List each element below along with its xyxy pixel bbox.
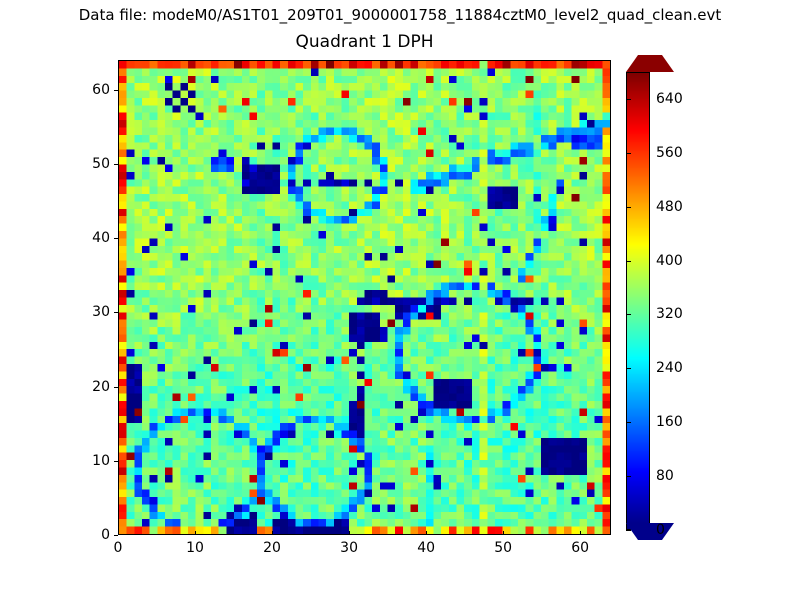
colorbar-body [626,72,650,530]
colorbar-tick-mark [626,422,631,423]
x-tick-label: 60 [571,540,589,556]
x-tick-label: 50 [494,540,512,556]
x-tick-mark [580,531,581,535]
y-tick-label: 50 [70,156,110,172]
colorbar-tick-label: 160 [656,414,683,430]
x-tick-mark [503,531,504,535]
colorbar-under-arrow-icon [626,523,674,540]
colorbar-tick-label: 240 [656,360,683,376]
y-tick-mark [114,238,118,239]
x-tick-mark [272,531,273,535]
y-tick-label: 30 [70,304,110,320]
data-file-suptitle: Data file: modeM0/AS1T01_209T01_90000017… [0,6,800,24]
y-tick-label: 40 [70,230,110,246]
y-tick-mark [114,312,118,313]
colorbar-tick-mark [626,530,631,531]
x-tick-label: 30 [340,540,358,556]
x-tick-mark [195,531,196,535]
x-tick-mark [118,531,119,535]
x-tick-label: 0 [114,540,123,556]
x-tick-mark [426,531,427,535]
x-tick-label: 10 [186,540,204,556]
colorbar[interactable] [626,60,650,535]
colorbar-tick-label: 640 [656,91,683,107]
colorbar-tick-label: 320 [656,306,683,322]
y-tick-mark [114,90,118,91]
colorbar-tick-label: 0 [656,522,665,538]
colorbar-tick-mark [626,314,631,315]
y-tick-label: 60 [70,82,110,98]
colorbar-tick-mark [626,476,631,477]
colorbar-over-arrow-icon [626,55,674,72]
colorbar-tick-label: 80 [656,468,674,484]
colorbar-tick-label: 400 [656,253,683,269]
colorbar-tick-label: 560 [656,145,683,161]
heatmap-axes[interactable] [118,60,611,535]
y-tick-mark [114,164,118,165]
colorbar-tick-mark [626,153,631,154]
y-tick-label: 20 [70,379,110,395]
x-tick-label: 40 [417,540,435,556]
y-tick-mark [114,535,118,536]
colorbar-gradient [627,73,649,529]
page-title: Quadrant 1 DPH [118,32,611,52]
x-tick-mark [349,531,350,535]
colorbar-tick-mark [626,261,631,262]
dph-heatmap-image[interactable] [119,61,610,534]
x-tick-label: 20 [263,540,281,556]
figure-canvas: Data file: modeM0/AS1T01_209T01_90000017… [0,0,800,600]
colorbar-tick-mark [626,99,631,100]
y-tick-mark [114,387,118,388]
colorbar-tick-mark [626,207,631,208]
y-tick-label: 0 [70,527,110,543]
y-tick-mark [114,461,118,462]
colorbar-tick-label: 480 [656,199,683,215]
colorbar-tick-mark [626,368,631,369]
y-tick-label: 10 [70,453,110,469]
